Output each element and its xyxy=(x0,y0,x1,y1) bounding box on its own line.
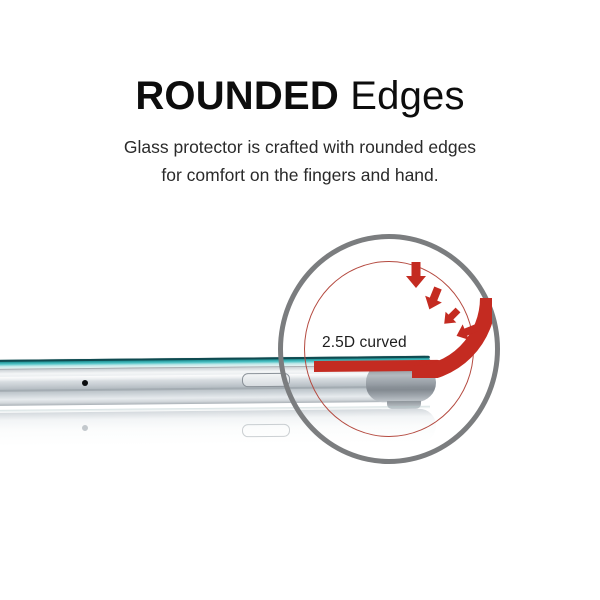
arrow-down-icon xyxy=(406,262,426,288)
magnifier-label: 2.5D curved xyxy=(322,334,407,352)
microphone-hole xyxy=(82,380,88,386)
arrow-down-icon xyxy=(439,305,464,330)
page-title: ROUNDED Edges xyxy=(0,72,600,120)
reflection-microphone-hole xyxy=(82,425,88,431)
page-title-strong: ROUNDED xyxy=(135,74,339,118)
page-title-light: Edges xyxy=(339,74,465,118)
pressure-arrows-group xyxy=(404,260,500,370)
page-subtitle-line-2: for comfort on the fingers and hand. xyxy=(0,161,600,189)
page-subtitle-line-1: Glass protector is crafted with rounded … xyxy=(0,133,600,161)
magnifier-callout: 2.5D curved xyxy=(278,234,500,464)
arrow-down-icon xyxy=(421,285,446,313)
page-subtitle: Glass protector is crafted with rounded … xyxy=(0,133,600,189)
product-illustration: 2.5D curved xyxy=(0,210,600,520)
product-feature-banner: ROUNDED Edges Glass protector is crafted… xyxy=(0,0,600,600)
arrow-down-icon xyxy=(453,320,479,343)
